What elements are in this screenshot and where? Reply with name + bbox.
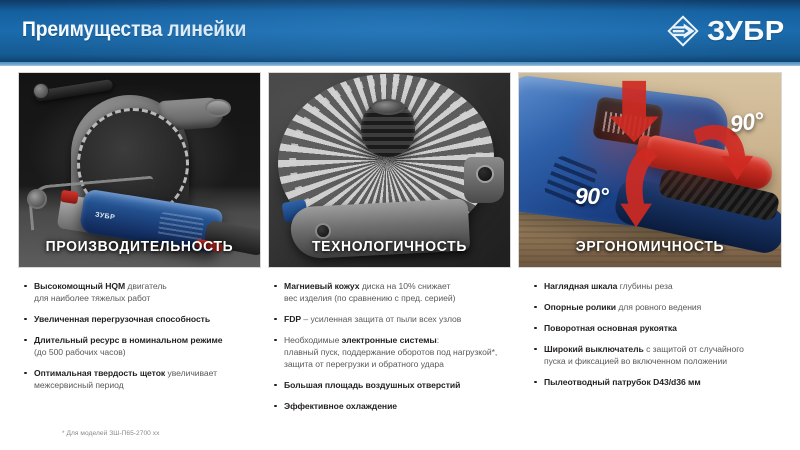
footnote: * Для моделей ЗШ-П65-2700 хх <box>62 430 159 437</box>
list-item: Большая площадь воздушных отверстий <box>272 379 514 391</box>
feature-column-technology: ТЕХНОЛОГИЧНОСТЬ Магниевый кожух диска на… <box>268 72 511 422</box>
header-bar: Преимущества линейки ЗУБР <box>0 0 800 62</box>
photo-card-performance: ЗУБР ПРОИЗВОДИТЕЛЬНОСТЬ <box>18 72 261 268</box>
list-item: Поворотная основная рукоятка <box>532 322 780 334</box>
list-item: Эффективное охлаждение <box>272 400 514 412</box>
list-item: Магниевый кожух диска на 10% снижает вес… <box>272 280 514 304</box>
base-shoe-hole-shape <box>315 223 331 239</box>
list-item: Увеличенная перегрузочная способность <box>22 313 258 325</box>
grinder-dust-port-shape <box>205 99 231 117</box>
list-item: Высокомощный HQM двигатель для наиболее … <box>22 280 258 304</box>
disc-hub-cap-shape <box>371 99 405 115</box>
grinder-lock-button-shape <box>60 190 79 205</box>
rotation-angle-label-right: 90° <box>728 107 765 138</box>
brand-logo-text: ЗУБР <box>707 17 785 45</box>
list-item: Длительный ресурс в номинальном режиме (… <box>22 334 258 358</box>
photo-performance-illustration: ЗУБР <box>19 73 260 267</box>
bullet-list-ergonomics: Наглядная шкала глубины реза Опорные рол… <box>532 280 782 397</box>
grinder-trolley-wheel-shape <box>27 189 47 209</box>
right-mount-hole-shape <box>476 165 494 183</box>
photo-caption-ergonomics: ЭРГОНОМИЧНОСТЬ <box>524 239 776 255</box>
bullet-list-technology: Магниевый кожух диска на 10% снижает вес… <box>272 280 516 421</box>
list-item: Пылеотводный патрубок D43/d36 мм <box>532 376 780 388</box>
photo-caption-performance: ПРОИЗВОДИТЕЛЬНОСТЬ <box>24 239 255 255</box>
photo-card-ergonomics: 90° 90° ЭРГОНОМИЧНОСТЬ <box>518 72 782 268</box>
header-underline <box>0 62 800 66</box>
feature-column-ergonomics: 90° 90° ЭРГОНОМИЧНОСТЬ Наглядная шкала г… <box>518 72 782 422</box>
grinder-handle-knob-shape <box>33 83 49 99</box>
list-item: Необходимые электронные системы: плавный… <box>272 334 514 370</box>
photo-technology-illustration <box>269 73 510 267</box>
list-item: Оптимальная твердость щеток увеличивает … <box>22 367 258 391</box>
photo-card-technology: ТЕХНОЛОГИЧНОСТЬ <box>268 72 511 268</box>
list-item: Опорные ролики для ровного ведения <box>532 301 780 313</box>
rotation-angle-label-left: 90° <box>575 183 608 210</box>
rotation-arrows-overlay <box>519 73 781 267</box>
arrow-down-icon <box>609 81 658 142</box>
photo-ergonomics-illustration: 90° 90° <box>519 73 781 267</box>
feature-columns: ЗУБР ПРОИЗВОДИТЕЛЬНОСТЬ Высокомощный HQM… <box>0 72 800 422</box>
zubr-diamond-arrow-logo-icon <box>666 14 700 48</box>
page-title: Преимущества линейки <box>22 18 246 42</box>
list-item: FDP – усиленная защита от пыли всех узло… <box>272 313 514 325</box>
photo-caption-technology: ТЕХНОЛОГИЧНОСТЬ <box>274 239 505 255</box>
slide-root: Преимущества линейки ЗУБР <box>0 0 800 450</box>
feature-column-performance: ЗУБР ПРОИЗВОДИТЕЛЬНОСТЬ Высокомощный HQM… <box>18 72 261 422</box>
list-item: Наглядная шкала глубины реза <box>532 280 780 292</box>
brand-logo: ЗУБР <box>666 14 782 48</box>
arrow-curve-left-icon <box>620 146 658 227</box>
list-item: Широкий выключатель с защитой от случайн… <box>532 343 780 367</box>
bullet-list-performance: Высокомощный HQM двигатель для наиболее … <box>22 280 260 400</box>
